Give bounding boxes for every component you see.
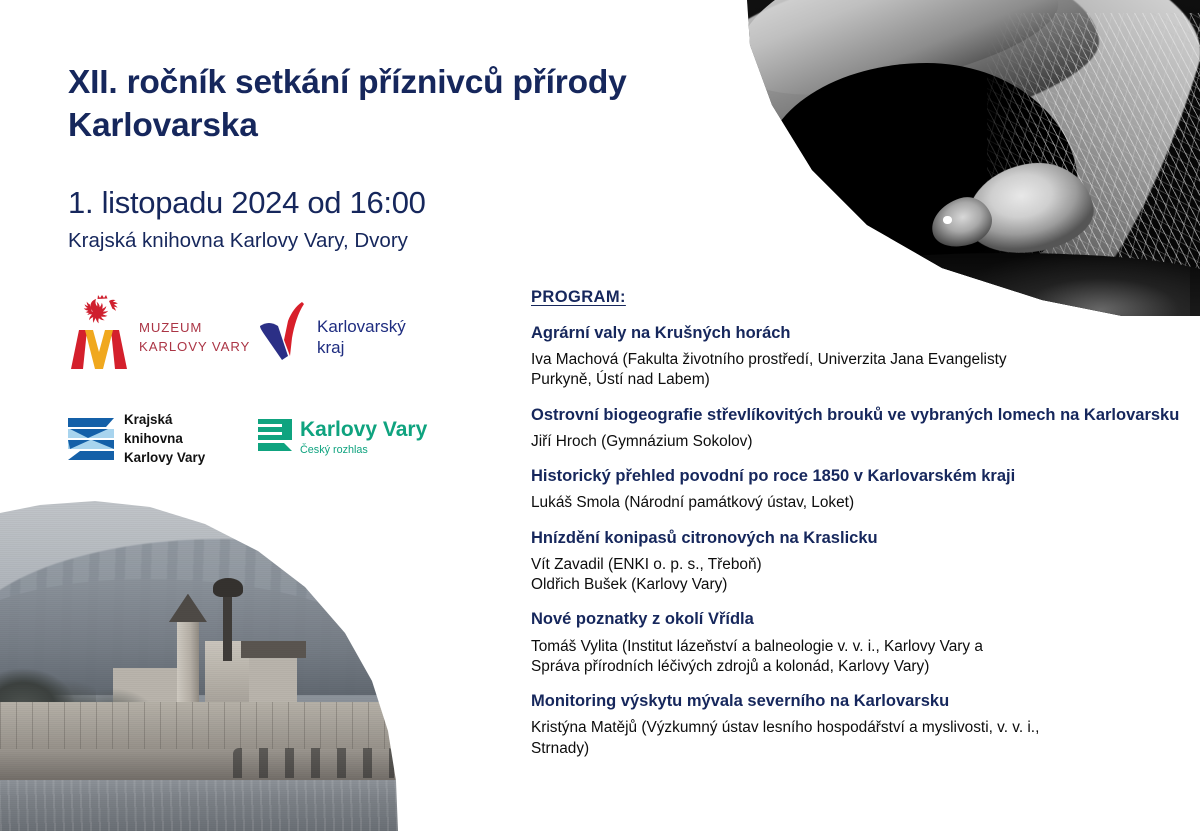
program-item-speaker-line: Lukáš Smola (Národní památkový ústav, Lo…	[531, 493, 1187, 513]
program-item-speaker: Kristýna Matějů (Výzkumný ústav lesního …	[531, 718, 1187, 759]
program-item-speaker-line: Oldřich Bušek (Karlovy Vary)	[531, 575, 1187, 595]
program-item: Ostrovní biogeografie střevlíkovitých br…	[531, 405, 1187, 452]
program-heading: PROGRAM:	[531, 288, 1187, 307]
program-item-speaker: Jiří Hroch (Gymnázium Sokolov)	[531, 432, 1187, 452]
program-item-title: Hnízdění konipasů citronových na Kraslic…	[531, 528, 1187, 548]
program-section: PROGRAM: Agrární valy na Krušných horách…	[531, 288, 1187, 773]
program-item-speaker: Iva Machová (Fakulta životního prostředí…	[531, 350, 1187, 391]
poster-canvas: XII. ročník setkání příznivců přírody Ka…	[0, 0, 1200, 831]
program-item-speaker: Lukáš Smola (Národní památkový ústav, Lo…	[531, 493, 1187, 513]
town-photo	[0, 491, 402, 831]
knihovna-bars-icon	[68, 416, 114, 462]
program-item-speaker-line: Strnady)	[531, 739, 1187, 759]
event-date: 1. listopadu 2024 od 16:00	[68, 185, 628, 221]
muzeum-m-icon	[71, 330, 127, 369]
town-photo-grain	[0, 491, 402, 831]
program-item-speaker-line: Vít Zavadil (ENKI o. p. s., Třeboň)	[531, 555, 1187, 575]
program-item-title: Ostrovní biogeografie střevlíkovitých br…	[531, 405, 1187, 425]
program-item-speaker-line: Iva Machová (Fakulta životního prostředí…	[531, 350, 1187, 370]
muzeum-logo-line1: MUZEUM	[139, 319, 250, 338]
knihovna-logo-line3: Karlovy Vary	[124, 448, 205, 467]
raccoon-photo	[692, 0, 1200, 316]
program-item-speaker-line: Správa přírodních léčivých zdrojů a kolo…	[531, 657, 1187, 677]
logo-krajska-knihovna: Krajská knihovna Karlovy Vary	[68, 410, 205, 467]
program-item: Agrární valy na Krušných horách Iva Mach…	[531, 323, 1187, 391]
program-item-speaker: Vít Zavadil (ENKI o. p. s., Třeboň) Oldř…	[531, 555, 1187, 596]
rozhlas-r-glyph	[258, 418, 292, 458]
program-item-title: Historický přehled povodní po roce 1850 …	[531, 466, 1187, 486]
kraj-logo-line1: Karlovarský	[317, 316, 406, 337]
logo-muzeum-karlovy-vary: MUZEUM KARLOVY VARY	[68, 293, 250, 369]
event-venue: Krajská knihovna Karlovy Vary, Dvory	[68, 228, 628, 255]
program-item-speaker-line: Kristýna Matějů (Výzkumný ústav lesního …	[531, 718, 1187, 738]
raccoon-eye	[943, 216, 951, 224]
rozhlas-logo-line1: Karlovy Vary	[300, 419, 427, 441]
muzeum-logo-text: MUZEUM KARLOVY VARY	[139, 305, 250, 356]
logo-cesky-rozhlas-karlovy-vary: Karlovy Vary Český rozhlas	[258, 418, 427, 458]
rozhlas-r-icon	[258, 418, 292, 458]
knihovna-bars-glyph	[68, 416, 114, 462]
knihovna-logo-text: Krajská knihovna Karlovy Vary	[124, 410, 205, 467]
program-item-speaker-line: Jiří Hroch (Gymnázium Sokolov)	[531, 432, 1187, 452]
rozhlas-logo-text: Karlovy Vary Český rozhlas	[300, 419, 427, 457]
program-item-title: Nové poznatky z okolí Vřídla	[531, 609, 1187, 629]
kraj-check-glyph	[258, 300, 310, 362]
muzeum-logo-line2: KARLOVY VARY	[139, 338, 250, 357]
program-item-speaker-line: Tomáš Vylita (Institut lázeňství a balne…	[531, 637, 1187, 657]
page-title: XII. ročník setkání příznivců přírody Ka…	[68, 62, 668, 147]
muzeum-lion-m-icon	[68, 293, 130, 369]
kraj-logo-text: Karlovarský kraj	[317, 304, 406, 359]
rozhlas-logo-line2: Český rozhlas	[300, 444, 427, 457]
program-item-title: Agrární valy na Krušných horách	[531, 323, 1187, 343]
kraj-check-icon	[258, 300, 310, 362]
kraj-logo-line2: kraj	[317, 337, 406, 358]
program-item-title: Monitoring výskytu mývala severního na K…	[531, 691, 1187, 711]
knihovna-logo-line2: knihovna	[124, 429, 205, 448]
knihovna-logo-line1: Krajská	[124, 410, 205, 429]
logo-karlovarsky-kraj: Karlovarský kraj	[258, 300, 406, 362]
program-item: Historický přehled povodní po roce 1850 …	[531, 466, 1187, 513]
program-item: Monitoring výskytu mývala severního na K…	[531, 691, 1187, 759]
program-item-speaker: Tomáš Vylita (Institut lázeňství a balne…	[531, 637, 1187, 678]
program-item-speaker-line: Purkyně, Ústí nad Labem)	[531, 370, 1187, 390]
program-item: Hnízdění konipasů citronových na Kraslic…	[531, 528, 1187, 596]
program-item: Nové poznatky z okolí Vřídla Tomáš Vylit…	[531, 609, 1187, 677]
raccoon-photo-image	[692, 0, 1200, 316]
lion-rampant-icon	[78, 293, 122, 333]
